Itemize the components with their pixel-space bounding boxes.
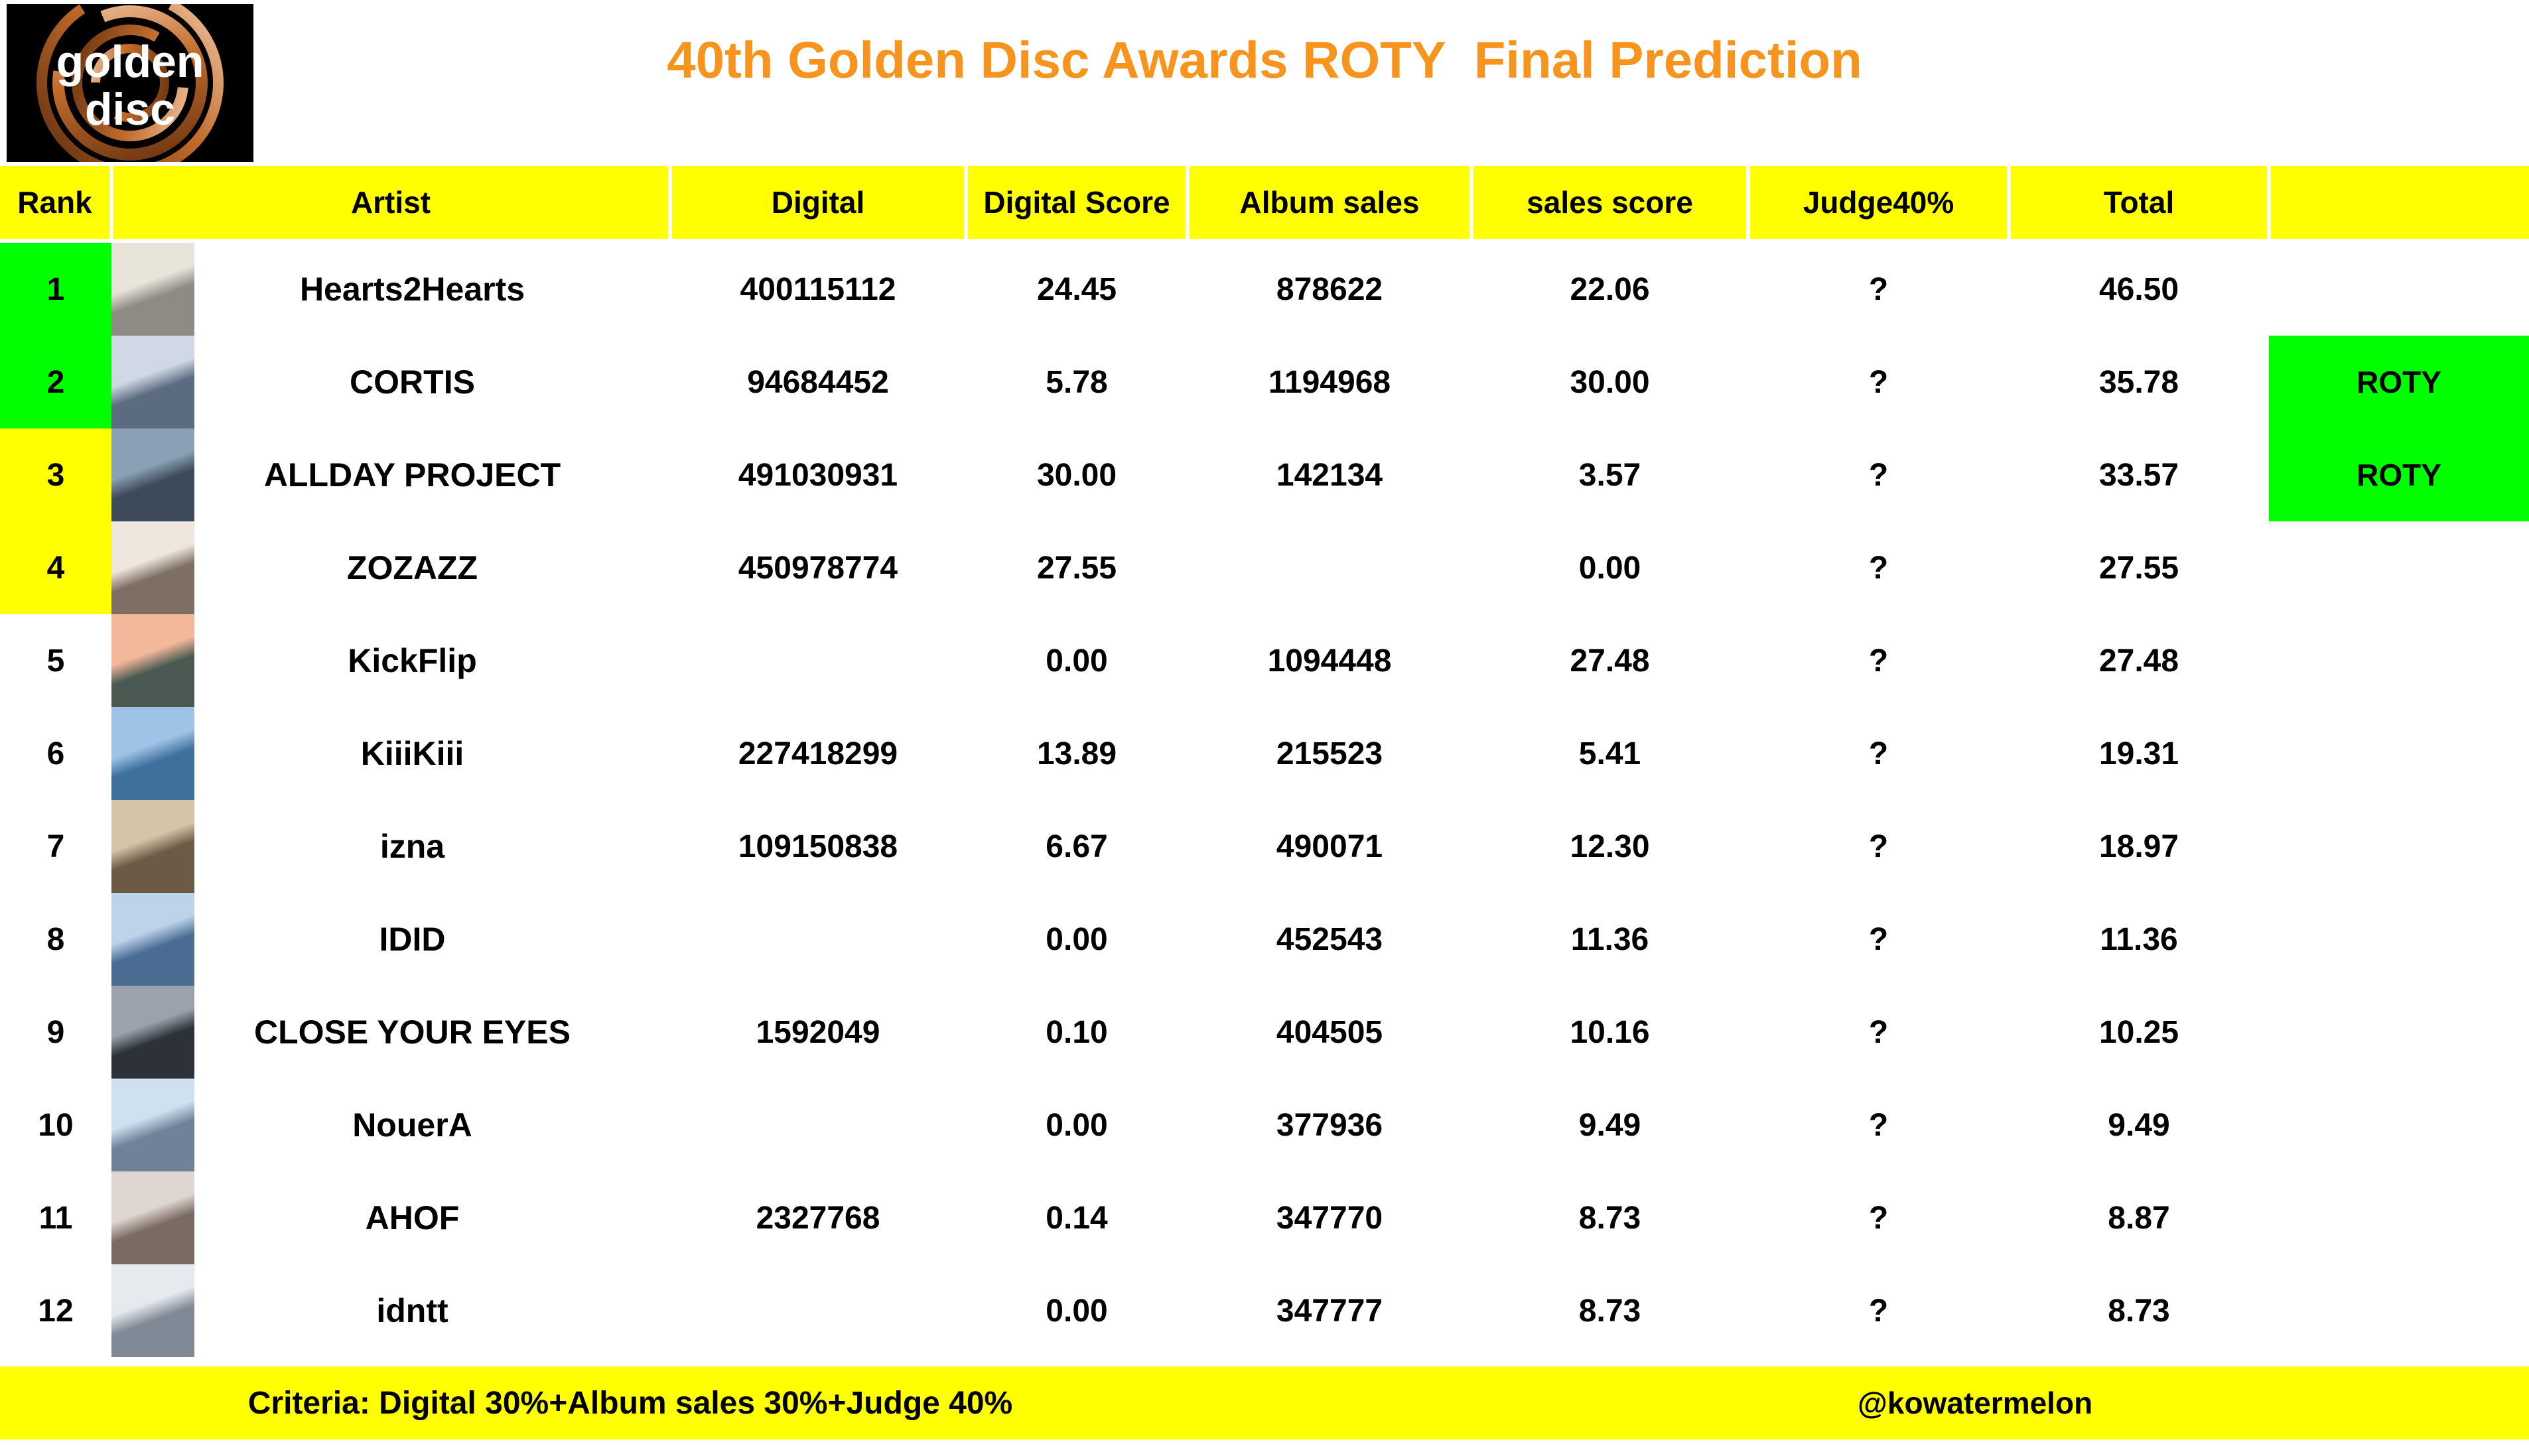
artist-photo bbox=[111, 521, 194, 614]
roty-badge: ROTY bbox=[2269, 336, 2529, 429]
digital-value bbox=[670, 1079, 966, 1171]
roty-empty bbox=[2269, 707, 2529, 800]
judge-value: ? bbox=[1748, 986, 2009, 1079]
roty-empty bbox=[2269, 243, 2529, 336]
artist-cell: idntt bbox=[111, 1264, 670, 1357]
artist-photo bbox=[111, 893, 194, 986]
artist-name: Hearts2Hearts bbox=[194, 270, 670, 308]
sales-score-value: 0.00 bbox=[1471, 521, 1748, 614]
col-header-judge: Judge40% bbox=[1748, 166, 2009, 241]
sales-score-value: 11.36 bbox=[1471, 893, 1748, 986]
rank-cell: 1 bbox=[0, 241, 111, 336]
roty-empty bbox=[2269, 986, 2529, 1079]
artist-cell: izna bbox=[111, 800, 670, 893]
digital-score-value: 0.14 bbox=[966, 1171, 1188, 1264]
album-sales-value: 878622 bbox=[1188, 241, 1471, 336]
rank-cell: 3 bbox=[0, 429, 111, 521]
total-value: 8.87 bbox=[2009, 1171, 2269, 1264]
table-row: 10NouerA0.003779369.49?9.49 bbox=[0, 1079, 2529, 1171]
artist-cell: ALLDAY PROJECT bbox=[111, 429, 670, 521]
roty-cell bbox=[2269, 241, 2529, 336]
rank-cell: 4 bbox=[0, 521, 111, 614]
album-sales-value bbox=[1188, 521, 1471, 614]
table-row: 8IDID0.0045254311.36?11.36 bbox=[0, 893, 2529, 986]
album-sales-value: 215523 bbox=[1188, 707, 1471, 800]
roty-cell bbox=[2269, 1171, 2529, 1264]
total-value: 27.48 bbox=[2009, 614, 2269, 707]
sales-score-value: 10.16 bbox=[1471, 986, 1748, 1079]
digital-score-value: 24.45 bbox=[966, 241, 1188, 336]
judge-value: ? bbox=[1748, 1079, 2009, 1171]
total-value: 18.97 bbox=[2009, 800, 2269, 893]
rank-cell: 6 bbox=[0, 707, 111, 800]
digital-value: 2327768 bbox=[670, 1171, 966, 1264]
artist-photo bbox=[111, 1079, 194, 1171]
digital-value: 109150838 bbox=[670, 800, 966, 893]
sales-score-value: 9.49 bbox=[1471, 1079, 1748, 1171]
sales-score-value: 3.57 bbox=[1471, 429, 1748, 521]
artist-name: CORTIS bbox=[194, 363, 670, 401]
total-value: 27.55 bbox=[2009, 521, 2269, 614]
artist-name: ZOZAZZ bbox=[194, 549, 670, 587]
roty-cell bbox=[2269, 1264, 2529, 1357]
artist-photo bbox=[111, 707, 194, 800]
album-sales-value: 490071 bbox=[1188, 800, 1471, 893]
digital-value bbox=[670, 614, 966, 707]
digital-score-value: 0.00 bbox=[966, 893, 1188, 986]
table-header-row: Rank Artist Digital Digital Score Album … bbox=[0, 166, 2529, 241]
digital-score-value: 6.67 bbox=[966, 800, 1188, 893]
artist-name: NouerA bbox=[194, 1106, 670, 1144]
sales-score-value: 22.06 bbox=[1471, 241, 1748, 336]
roty-badge: ROTY bbox=[2269, 429, 2529, 521]
rank-cell: 11 bbox=[0, 1171, 111, 1264]
judge-value: ? bbox=[1748, 707, 2009, 800]
sales-score-value: 8.73 bbox=[1471, 1264, 1748, 1357]
table-row: 1Hearts2Hearts40011511224.4587862222.06?… bbox=[0, 241, 2529, 336]
digital-score-value: 5.78 bbox=[966, 336, 1188, 429]
digital-score-value: 13.89 bbox=[966, 707, 1188, 800]
artist-name: izna bbox=[194, 827, 670, 866]
col-header-album-sales: Album sales bbox=[1188, 166, 1471, 241]
digital-value: 450978774 bbox=[670, 521, 966, 614]
roty-empty bbox=[2269, 521, 2529, 614]
criteria-note: Criteria: Digital 30%+Album sales 30%+Ju… bbox=[0, 1366, 1261, 1439]
total-value: 11.36 bbox=[2009, 893, 2269, 986]
artist-cell: CLOSE YOUR EYES bbox=[111, 986, 670, 1079]
table-row: 7izna1091508386.6749007112.30?18.97 bbox=[0, 800, 2529, 893]
col-header-digital-score: Digital Score bbox=[966, 166, 1188, 241]
judge-value: ? bbox=[1748, 336, 2009, 429]
roty-cell bbox=[2269, 614, 2529, 707]
roty-cell bbox=[2269, 986, 2529, 1079]
artist-cell: ZOZAZZ bbox=[111, 521, 670, 614]
digital-score-value: 0.10 bbox=[966, 986, 1188, 1079]
artist-cell: Hearts2Hearts bbox=[111, 241, 670, 336]
digital-score-value: 27.55 bbox=[966, 521, 1188, 614]
artist-cell: AHOF bbox=[111, 1171, 670, 1264]
total-value: 46.50 bbox=[2009, 241, 2269, 336]
artist-photo bbox=[111, 336, 194, 429]
judge-value: ? bbox=[1748, 800, 2009, 893]
header-band: golden disc 40th Golden Disc Awards ROTY… bbox=[0, 0, 2529, 166]
footer-band: Criteria: Digital 30%+Album sales 30%+Ju… bbox=[0, 1366, 2529, 1439]
sales-score-value: 12.30 bbox=[1471, 800, 1748, 893]
total-value: 35.78 bbox=[2009, 336, 2269, 429]
rank-cell: 10 bbox=[0, 1079, 111, 1171]
album-sales-value: 1194968 bbox=[1188, 336, 1471, 429]
total-value: 8.73 bbox=[2009, 1264, 2269, 1357]
rank-cell: 5 bbox=[0, 614, 111, 707]
roty-cell bbox=[2269, 893, 2529, 986]
judge-value: ? bbox=[1748, 1171, 2009, 1264]
judge-value: ? bbox=[1748, 614, 2009, 707]
artist-photo bbox=[111, 800, 194, 893]
col-header-sales-score: sales score bbox=[1471, 166, 1748, 241]
table-row: 12idntt0.003477778.73?8.73 bbox=[0, 1264, 2529, 1357]
rank-cell: 12 bbox=[0, 1264, 111, 1357]
prediction-graphic: golden disc 40th Golden Disc Awards ROTY… bbox=[0, 0, 2529, 1456]
album-sales-value: 404505 bbox=[1188, 986, 1471, 1079]
album-sales-value: 347777 bbox=[1188, 1264, 1471, 1357]
album-sales-value: 1094448 bbox=[1188, 614, 1471, 707]
digital-score-value: 0.00 bbox=[966, 614, 1188, 707]
artist-photo bbox=[111, 429, 194, 521]
digital-score-value: 30.00 bbox=[966, 429, 1188, 521]
col-header-digital: Digital bbox=[670, 166, 966, 241]
bottom-strip bbox=[0, 1439, 2529, 1456]
artist-cell: IDID bbox=[111, 893, 670, 986]
rank-cell: 2 bbox=[0, 336, 111, 429]
table-row: 6KiiiKiii22741829913.892155235.41?19.31 bbox=[0, 707, 2529, 800]
digital-value: 1592049 bbox=[670, 986, 966, 1079]
watermark-handle: @kowatermelon bbox=[1858, 1366, 2455, 1439]
artist-photo bbox=[111, 614, 194, 707]
roty-empty bbox=[2269, 1079, 2529, 1171]
roty-empty bbox=[2269, 1264, 2529, 1357]
table-row: 11AHOF23277680.143477708.73?8.87 bbox=[0, 1171, 2529, 1264]
rank-cell: 7 bbox=[0, 800, 111, 893]
artist-name: CLOSE YOUR EYES bbox=[194, 1013, 670, 1051]
judge-value: ? bbox=[1748, 521, 2009, 614]
roty-cell bbox=[2269, 521, 2529, 614]
artist-photo bbox=[111, 986, 194, 1079]
artist-cell: NouerA bbox=[111, 1079, 670, 1171]
artist-name: AHOF bbox=[194, 1199, 670, 1237]
roty-cell bbox=[2269, 800, 2529, 893]
col-header-blank bbox=[2269, 166, 2529, 241]
sales-score-value: 30.00 bbox=[1471, 336, 1748, 429]
sales-score-value: 27.48 bbox=[1471, 614, 1748, 707]
rank-cell: 8 bbox=[0, 893, 111, 986]
roty-empty bbox=[2269, 1171, 2529, 1264]
digital-score-value: 0.00 bbox=[966, 1264, 1188, 1357]
digital-value bbox=[670, 1264, 966, 1357]
digital-value: 491030931 bbox=[670, 429, 966, 521]
roty-cell: ROTY bbox=[2269, 336, 2529, 429]
roty-empty bbox=[2269, 614, 2529, 707]
digital-value: 400115112 bbox=[670, 241, 966, 336]
artist-cell: KiiiKiii bbox=[111, 707, 670, 800]
album-sales-value: 452543 bbox=[1188, 893, 1471, 986]
artist-cell: CORTIS bbox=[111, 336, 670, 429]
artist-name: KiiiKiii bbox=[194, 734, 670, 773]
digital-value: 94684452 bbox=[670, 336, 966, 429]
artist-name: KickFlip bbox=[194, 641, 670, 680]
total-value: 19.31 bbox=[2009, 707, 2269, 800]
digital-value bbox=[670, 893, 966, 986]
roty-cell bbox=[2269, 1079, 2529, 1171]
total-value: 10.25 bbox=[2009, 986, 2269, 1079]
artist-name: ALLDAY PROJECT bbox=[194, 456, 670, 494]
col-header-total: Total bbox=[2009, 166, 2269, 241]
album-sales-value: 377936 bbox=[1188, 1079, 1471, 1171]
judge-value: ? bbox=[1748, 893, 2009, 986]
digital-value: 227418299 bbox=[670, 707, 966, 800]
table-row: 9CLOSE YOUR EYES15920490.1040450510.16?1… bbox=[0, 986, 2529, 1079]
album-sales-value: 347770 bbox=[1188, 1171, 1471, 1264]
sales-score-value: 5.41 bbox=[1471, 707, 1748, 800]
roty-empty bbox=[2269, 893, 2529, 986]
roty-cell bbox=[2269, 707, 2529, 800]
artist-photo bbox=[111, 243, 194, 336]
artist-photo bbox=[111, 1171, 194, 1264]
judge-value: ? bbox=[1748, 241, 2009, 336]
roty-cell: ROTY bbox=[2269, 429, 2529, 521]
total-value: 9.49 bbox=[2009, 1079, 2269, 1171]
artist-name: IDID bbox=[194, 920, 670, 959]
table-row: 4ZOZAZZ45097877427.550.00?27.55 bbox=[0, 521, 2529, 614]
album-sales-value: 142134 bbox=[1188, 429, 1471, 521]
page-title: 40th Golden Disc Awards ROTY Final Predi… bbox=[0, 0, 2529, 119]
col-header-rank: Rank bbox=[0, 166, 111, 241]
total-value: 33.57 bbox=[2009, 429, 2269, 521]
judge-value: ? bbox=[1748, 1264, 2009, 1357]
judge-value: ? bbox=[1748, 429, 2009, 521]
artist-name: idntt bbox=[194, 1291, 670, 1330]
digital-score-value: 0.00 bbox=[966, 1079, 1188, 1171]
ranking-table: Rank Artist Digital Digital Score Album … bbox=[0, 166, 2529, 1357]
sales-score-value: 8.73 bbox=[1471, 1171, 1748, 1264]
roty-empty bbox=[2269, 800, 2529, 893]
artist-cell: KickFlip bbox=[111, 614, 670, 707]
rank-cell: 9 bbox=[0, 986, 111, 1079]
table-row: 5KickFlip0.00109444827.48?27.48 bbox=[0, 614, 2529, 707]
table-row: 2CORTIS946844525.78119496830.00?35.78ROT… bbox=[0, 336, 2529, 429]
artist-photo bbox=[111, 1264, 194, 1357]
table-row: 3ALLDAY PROJECT49103093130.001421343.57?… bbox=[0, 429, 2529, 521]
col-header-artist: Artist bbox=[111, 166, 670, 241]
